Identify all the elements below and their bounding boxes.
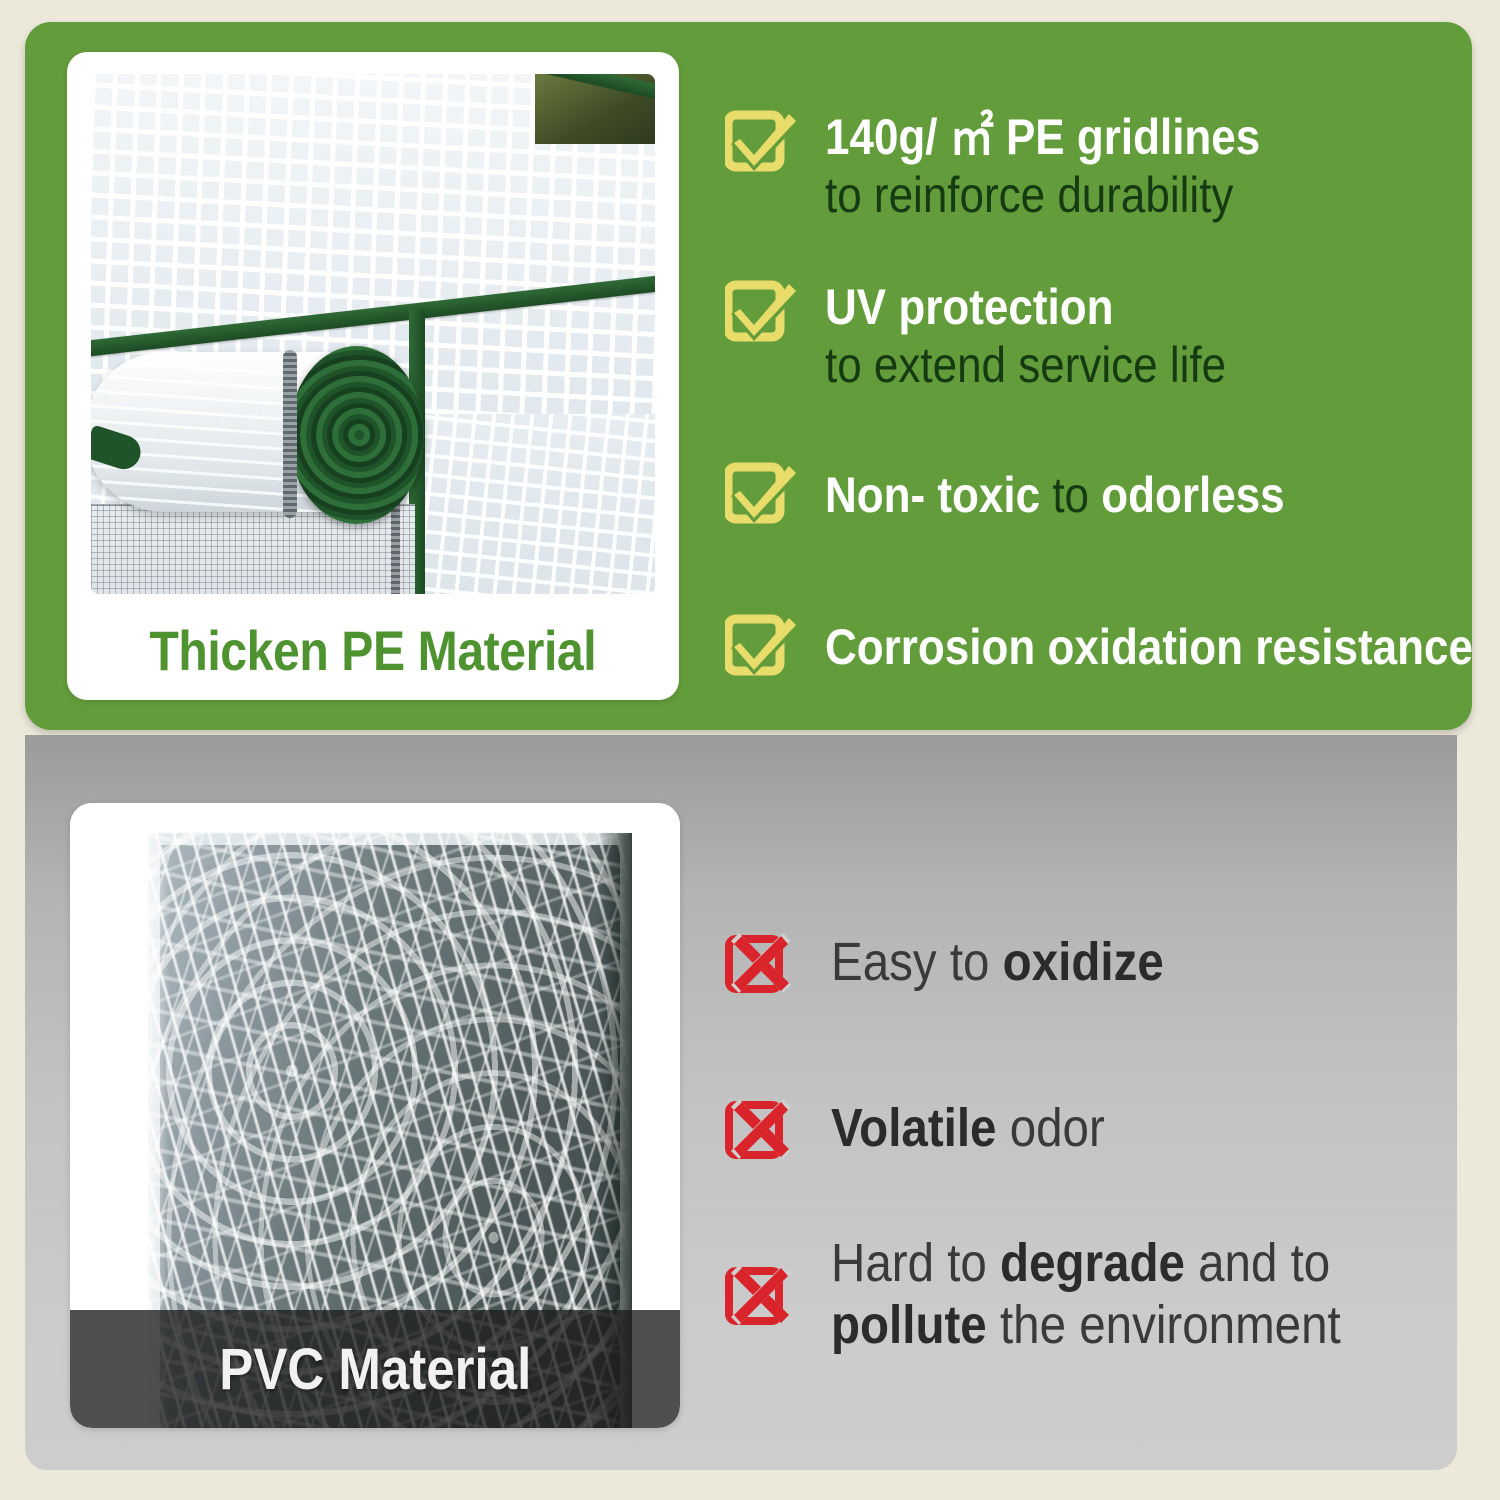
pvc-material-card: PVC Material (70, 803, 680, 1428)
drawback-text: Volatile odor (831, 1098, 1142, 1160)
drawback-tail-2: the environment (987, 1295, 1341, 1355)
drawback-tail: odor (996, 1098, 1104, 1158)
drawback-text: Easy to oxidize (831, 932, 1209, 994)
drawback-item-volatile-odor: Volatile odor (725, 1093, 1142, 1165)
drawback-line1: Volatile odor (831, 1098, 1105, 1160)
drawback-line1: Easy to oxidize (831, 932, 1164, 994)
pe-material-card: Thicken PE Material (67, 52, 679, 700)
feature-line1-bold-b: odorless (1101, 467, 1284, 523)
drawback-bold-2: pollute (831, 1295, 987, 1355)
drawback-line2: pollute the environment (831, 1295, 1341, 1357)
pvc-drawback-list: Easy to oxidize Volatile odor (715, 905, 1475, 1425)
feature-item-uv-protection: UV protection to extend service life (725, 274, 1281, 394)
feature-text: UV protection to extend service life (825, 274, 1281, 394)
drawback-line1: Hard to degrade and to (831, 1233, 1341, 1295)
drawback-text: Hard to degrade and to pollute the envir… (831, 1233, 1410, 1356)
feature-line1: 140g/ ㎡ PE gridlines (825, 108, 1260, 166)
pvc-material-panel: PVC Material Easy to oxidize (25, 735, 1457, 1470)
cross-box-icon (725, 1093, 797, 1165)
drawback-bold: oxidize (1003, 932, 1164, 992)
pvc-caption: PVC Material (70, 1310, 680, 1428)
feature-line1-bold-a: Non- toxic (825, 467, 1040, 523)
pe-material-panel: Thicken PE Material 140g/ ㎡ PE gridlines… (25, 22, 1472, 730)
photo-rolled-fabric-coil (289, 346, 424, 524)
feature-line1: UV protection (825, 278, 1226, 336)
drawback-bold: degrade (1000, 1233, 1185, 1293)
pe-feature-list: 140g/ ㎡ PE gridlines to reinforce durabi… (715, 56, 1455, 704)
pe-caption-label: Thicken PE Material (150, 618, 597, 683)
feature-line1: Non- toxic to odorless (825, 466, 1285, 524)
drawback-item-oxidize: Easy to oxidize (725, 927, 1209, 999)
feature-text: Corrosion oxidation resistance (825, 614, 1500, 676)
feature-line1: Corrosion oxidation resistance (825, 618, 1473, 676)
drawback-tail: and to (1185, 1233, 1330, 1293)
pvc-caption-label: PVC Material (219, 1336, 531, 1403)
check-box-icon (725, 274, 799, 348)
feature-line2: to extend service life (825, 336, 1226, 394)
feature-text: Non- toxic to odorless (825, 462, 1347, 524)
drawback-plain: Easy to (831, 932, 1003, 992)
drawback-item-hard-to-degrade: Hard to degrade and to pollute the envir… (725, 1233, 1410, 1356)
feature-item-corrosion-resistance: Corrosion oxidation resistance (725, 608, 1500, 682)
cross-box-icon (725, 927, 797, 999)
cross-box-icon (725, 1259, 797, 1331)
pe-greenhouse-fabric-photo (91, 74, 655, 594)
feature-item-gridlines: 140g/ ㎡ PE gridlines to reinforce durabi… (725, 104, 1320, 224)
check-box-icon (725, 456, 799, 530)
check-box-icon (725, 608, 799, 682)
feature-item-non-toxic: Non- toxic to odorless (725, 456, 1347, 530)
check-box-icon (725, 104, 799, 178)
pe-caption: Thicken PE Material (67, 600, 679, 700)
feature-text: 140g/ ㎡ PE gridlines to reinforce durabi… (825, 104, 1320, 224)
drawback-bold: Volatile (831, 1098, 996, 1158)
feature-line2: to reinforce durability (825, 166, 1260, 224)
drawback-plain: Hard to (831, 1233, 1000, 1293)
feature-line1-dim: to (1040, 467, 1101, 523)
